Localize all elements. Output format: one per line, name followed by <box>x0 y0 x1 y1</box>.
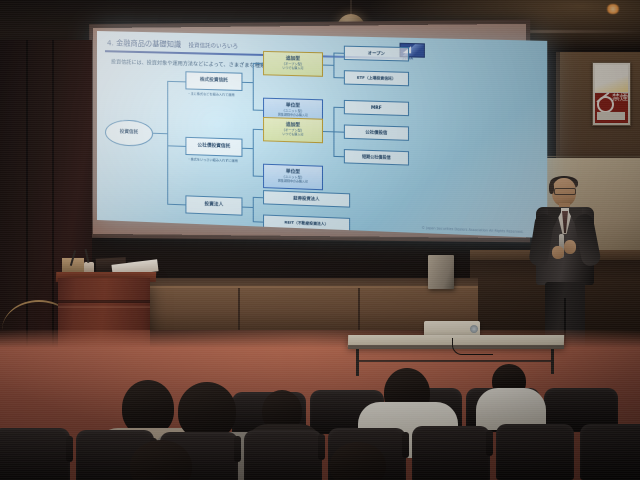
diagram-root-node: 投資信託 <box>105 119 153 147</box>
seat-armrest <box>402 432 409 458</box>
connector-corp-leaf-1 <box>253 197 263 198</box>
diagram-node-equity-additional: 追加型 (オープン型) いつでも購入可 <box>263 51 323 77</box>
table-cross-bar <box>356 360 554 362</box>
node-sublabel-2: いつでも購入可 <box>282 66 303 70</box>
node-sublabel-2: 募集期間中のみ購入可 <box>278 179 308 183</box>
diagram-branch-equity: 株式投資信託 <box>185 71 242 91</box>
sign-kanji-label: 禁煙 <box>612 94 628 102</box>
leaf-label: 短期公社債投信 <box>362 155 391 160</box>
connector-eqadd-leaf-1 <box>333 53 343 54</box>
node-sublabel-2: 募集期間中のみ購入可 <box>278 113 308 117</box>
diagram-leaf-etf: ETF（上場投資信託） <box>344 70 409 86</box>
diagram-branch-corporation-label: 投資法人 <box>205 203 224 209</box>
leaf-label: 公社債投信 <box>365 130 387 135</box>
connector-corp-out <box>242 207 252 208</box>
connector-root-out <box>153 133 167 134</box>
leaf-label: MRF <box>371 106 382 111</box>
seat-armrest <box>66 436 73 462</box>
podium-trim <box>58 300 150 303</box>
seat-armrest <box>234 436 241 462</box>
slide-title-number: 4. <box>107 38 114 47</box>
seat-armrest <box>486 430 493 456</box>
diagram-leaf-mrf: MRF <box>344 100 409 116</box>
diagram-leaf-securities-corp: 証券投資法人 <box>263 190 350 208</box>
connector-corp-leaf-2 <box>253 221 263 222</box>
connector-bondadd-leaf-2 <box>333 131 343 132</box>
audience-area <box>0 384 640 480</box>
leaf-label: ETF（上場投資信託） <box>357 76 396 81</box>
stage-panel-seam <box>358 288 360 330</box>
seat-armrest <box>318 434 325 460</box>
connector-bond-to-add <box>253 129 263 130</box>
diagram-branch-corporation: 投資法人 <box>185 195 242 215</box>
sign-badge <box>597 112 625 120</box>
leaf-label: 証券投資法人 <box>293 196 319 202</box>
projector-cable <box>452 338 493 355</box>
lecture-hall-photo: 禁煙 4. 金融商品の基礎知識 投資信託のいろいろ JSDA 投資信託には、投資… <box>0 0 640 480</box>
connector-eqadd-out <box>323 65 333 66</box>
connector-bondadd-out <box>323 131 333 132</box>
presenter-hand-left <box>552 246 564 259</box>
presenter-glasses <box>554 188 576 195</box>
connector-bondadd-leaf-3 <box>333 156 343 157</box>
diagram-node-bond-additional: 追加型 (オープン型) いつでも購入可 <box>263 117 323 143</box>
diagram-leaf-bond-fund: 公社債投信 <box>344 124 409 140</box>
auditorium-seat <box>244 430 322 480</box>
ceiling-lamp <box>606 4 620 14</box>
connector-root-to-corp <box>167 204 185 206</box>
connector-bond-spine <box>253 129 254 176</box>
connector-bond-to-unit <box>253 176 263 177</box>
node-sublabel-2: いつでも購入可 <box>282 132 303 136</box>
connector-equity-to-unit <box>253 110 263 111</box>
connector-eqadd-spine <box>333 53 334 78</box>
connector-bondadd-leaf-1 <box>333 107 343 108</box>
stage-speaker-monitor <box>428 255 454 289</box>
presenter-hand-right <box>564 240 576 254</box>
diagram-branch-equity-label: 株式投資信託 <box>200 78 228 84</box>
connector-equity-spine <box>253 63 254 110</box>
connector-bond-out <box>242 148 252 149</box>
diagram-branch-equity-note: ・主に株式などを組み入れて運用 <box>187 92 248 98</box>
leaf-label: REIT（不動産投資法人） <box>284 220 328 226</box>
diagram-branch-bond: 公社債投資信託 <box>185 137 242 157</box>
slide-subtitle: 投資信託のいろいろ <box>189 43 238 50</box>
connector-root-spine <box>167 81 168 204</box>
no-smoking-sign: 禁煙 <box>592 62 631 126</box>
table-leg <box>356 348 359 376</box>
leaf-label: オープン <box>368 51 385 56</box>
diagram-node-bond-unit: 単位型 (ユニット型) 募集期間中のみ購入可 <box>263 164 323 191</box>
diagram-branch-bond-label: 公社債投資信託 <box>197 144 230 150</box>
stage-panel-seam <box>238 288 240 330</box>
projector-lens <box>470 325 478 333</box>
slide-footer-copyright: © Japan Securities Dealers Association A… <box>422 226 524 234</box>
connector-eqadd-leaf-2 <box>333 77 343 78</box>
connector-corp-spine <box>253 197 254 221</box>
auditorium-seat <box>580 424 640 480</box>
connector-equity-out <box>242 82 252 83</box>
projected-slide: 4. 金融商品の基礎知識 投資信託のいろいろ JSDA 投資信託には、投資対象や… <box>97 31 547 238</box>
connector-root-to-bond <box>167 145 185 146</box>
podium-trim-highlight <box>58 306 150 308</box>
auditorium-seat <box>496 424 574 480</box>
slide-title: 4. 金融商品の基礎知識 投資信託のいろいろ <box>107 38 238 51</box>
slide-title-text: 金融商品の基礎知識 <box>116 38 181 49</box>
diagram-root-label: 投資信託 <box>120 130 138 136</box>
diagram-branch-bond-note: ・株式をいっさい組み入れずに運用 <box>187 158 250 164</box>
connector-root-to-equity <box>167 81 185 82</box>
diagram-leaf-short-bond-fund: 短期公社債投信 <box>344 149 409 166</box>
diagram-leaf-open: オープン <box>344 46 409 62</box>
sign-upper-panel <box>595 65 628 92</box>
auditorium-seat <box>412 426 490 480</box>
audience-head-foreground <box>330 442 386 480</box>
auditorium-seat <box>0 428 70 480</box>
